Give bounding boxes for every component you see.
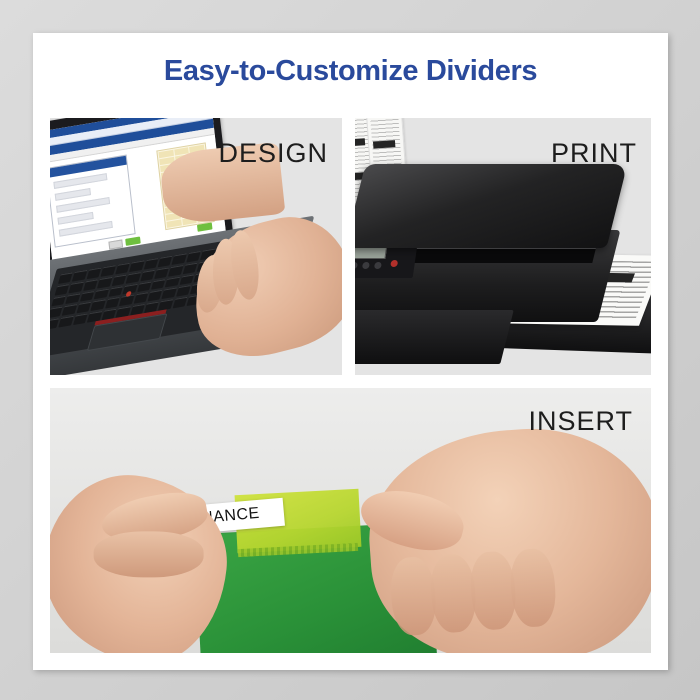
- thumb: [355, 481, 469, 559]
- printer-power-button[interactable]: [390, 260, 398, 267]
- app-primary-button[interactable]: [197, 222, 213, 231]
- hand-left-holding-label: [50, 467, 235, 653]
- hand-right-holding-divider: [362, 420, 651, 653]
- knuckle: [508, 547, 557, 628]
- printer-scanner-lid[interactable]: [355, 164, 627, 248]
- printer-button[interactable]: [355, 262, 358, 269]
- screenshot-stage: Easy-to-Customize Dividers: [0, 0, 700, 700]
- printer-button[interactable]: [374, 262, 382, 269]
- product-info-card: Easy-to-Customize Dividers: [33, 33, 668, 670]
- panel-print[interactable]: PRINT: [355, 118, 651, 375]
- printer-button[interactable]: [362, 262, 370, 269]
- page-title: Easy-to-Customize Dividers: [33, 55, 668, 88]
- design-dialog: [50, 155, 136, 248]
- panel-label-insert: INSERT: [528, 406, 633, 437]
- dialog-field: [55, 188, 91, 201]
- dialog-field: [57, 212, 93, 225]
- panel-insert[interactable]: FINANCE INSERT: [50, 388, 651, 653]
- panel-label-design: DESIGN: [218, 138, 328, 169]
- printer-lower-housing: [355, 310, 514, 364]
- index-finger: [94, 531, 204, 577]
- panel-label-print: PRINT: [551, 138, 637, 169]
- panel-design[interactable]: DESIGN: [50, 118, 342, 375]
